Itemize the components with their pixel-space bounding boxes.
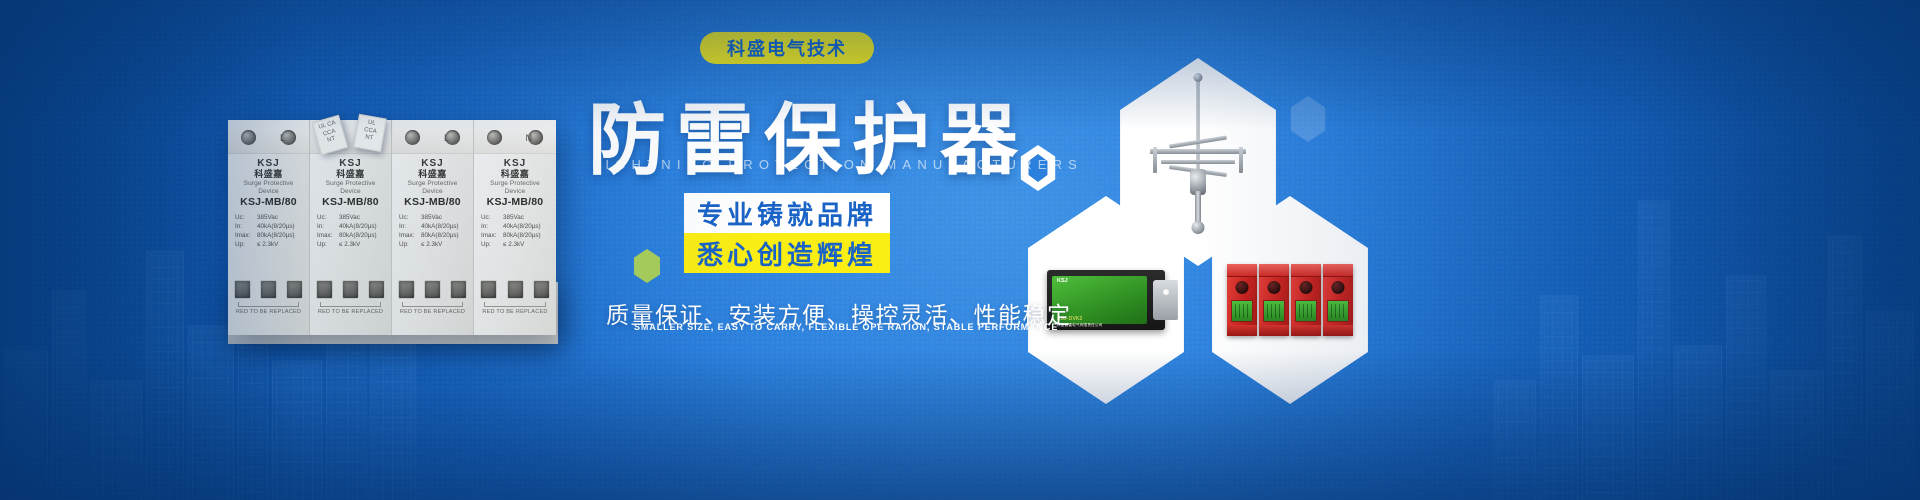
decor-hexagon-filled xyxy=(1288,96,1328,142)
spec-value: ≤ 2.3kV xyxy=(421,240,442,249)
terminal-label: L xyxy=(444,133,449,143)
slogan-line-2: 悉心创造辉煌 xyxy=(684,233,890,273)
spec-value: 40kA(8/20µs) xyxy=(257,222,295,231)
spd-model: KSJ-MB/80 xyxy=(479,197,551,209)
spec-key: Imax: xyxy=(317,231,337,240)
spec-value: ≤ 2.3kV xyxy=(339,240,360,249)
spec-key: Up: xyxy=(481,240,501,249)
page-title: 防雷保护器 xyxy=(588,78,1028,190)
spec-key: Imax: xyxy=(481,231,501,240)
spd-brand-cn: 科盛嘉 xyxy=(397,169,468,179)
spec-key: Uc: xyxy=(235,213,255,222)
spd-device-type: Surge Protective Device xyxy=(397,180,468,195)
spec-value: 385Vac xyxy=(421,213,442,222)
terminal-label: N xyxy=(526,133,533,143)
spec-value: 40kA(8/20µs) xyxy=(421,222,459,231)
spec-value: 40kA(8/20µs) xyxy=(503,222,541,231)
spd-model: KSJ-MB/80 xyxy=(315,197,386,209)
spd-brand-latin: KSJ xyxy=(479,158,551,169)
city-skyline-right xyxy=(1490,170,1920,500)
cert-tag: UL CCA NT xyxy=(353,114,386,152)
spd-module: L KSJ 科盛嘉 Surge Protective Device KSJ-MB… xyxy=(228,120,310,335)
spec-value: 80kA(8/20µs) xyxy=(503,231,541,240)
red-spd-modules xyxy=(1227,264,1353,336)
spec-key: Up: xyxy=(399,240,419,249)
spec-key: In: xyxy=(399,222,419,231)
spd-module: L KSJ 科盛嘉 Surge Protective Device KSJ-MB… xyxy=(392,120,474,335)
spec-key: Uc: xyxy=(399,213,419,222)
spec-key: Imax: xyxy=(235,231,255,240)
spd-model: KSJ-MB/80 xyxy=(397,197,468,209)
spec-value: 385Vac xyxy=(339,213,360,222)
replace-note: RED TO BE REPLACED xyxy=(392,309,473,315)
spec-value: ≤ 2.3kV xyxy=(503,240,524,249)
spd-brand-latin: KSJ xyxy=(233,158,304,169)
spec-key: Up: xyxy=(235,240,255,249)
spd-brand-latin: KSJ xyxy=(315,158,386,169)
spec-key: Uc: xyxy=(317,213,337,222)
brand-badge: 科盛电气技术 xyxy=(700,32,874,64)
spd-module: N KSJ 科盛嘉 Surge Protective Device KSJ-MB… xyxy=(474,120,556,335)
pcb-brand: KSJ xyxy=(1057,278,1068,284)
spd-device-type: Surge Protective Device xyxy=(315,180,386,195)
spd-brand-cn: 科盛嘉 xyxy=(315,169,386,179)
slogan-line-1: 专业铸就品牌 xyxy=(684,193,890,233)
features-en: SMALLER SIZE, EASY TO CARRY, FLEXIBLE OP… xyxy=(634,322,1058,332)
spec-key: Imax: xyxy=(399,231,419,240)
spd-brand-cn: 科盛嘉 xyxy=(233,169,304,179)
spec-value: ≤ 2.3kV xyxy=(257,240,278,249)
spd-model: KSJ-MB/80 xyxy=(233,197,304,209)
spec-value: 385Vac xyxy=(257,213,278,222)
spec-value: 80kA(8/20µs) xyxy=(421,231,459,240)
spec-value: 80kA(8/20µs) xyxy=(339,231,377,240)
spec-key: In: xyxy=(317,222,337,231)
spd-brand-cn: 科盛嘉 xyxy=(479,169,551,179)
spec-key: Up: xyxy=(317,240,337,249)
spec-value: 385Vac xyxy=(503,213,524,222)
spec-value: 40kA(8/20µs) xyxy=(339,222,377,231)
spec-key: In: xyxy=(481,222,501,231)
replace-note: RED TO BE REPLACED xyxy=(310,309,391,315)
hex-product-red-spd xyxy=(1200,196,1380,404)
replace-note: RED TO BE REPLACED xyxy=(228,309,309,315)
spec-key: Uc: xyxy=(481,213,501,222)
terminal-label: L xyxy=(280,133,285,143)
spd-device-type: Surge Protective Device xyxy=(233,180,304,195)
spec-value: 80kA(8/20µs) xyxy=(257,231,295,240)
spd-brand-latin: KSJ xyxy=(397,158,468,169)
promo-banner: KSJ KSJ-DVK2 科盛避雷电气有限责任公司 PE xyxy=(0,0,1920,500)
spd-module-bank: L KSJ 科盛嘉 Surge Protective Device KSJ-MB… xyxy=(228,120,558,335)
decor-hexagon-green xyxy=(632,249,662,283)
page-subtitle: LIGHTNING PROTECTION MANUFACTURERS xyxy=(592,157,1083,172)
replace-note: RED TO BE REPLACED xyxy=(474,309,556,315)
spec-key: In: xyxy=(235,222,255,231)
spd-device-type: Surge Protective Device xyxy=(479,180,551,195)
